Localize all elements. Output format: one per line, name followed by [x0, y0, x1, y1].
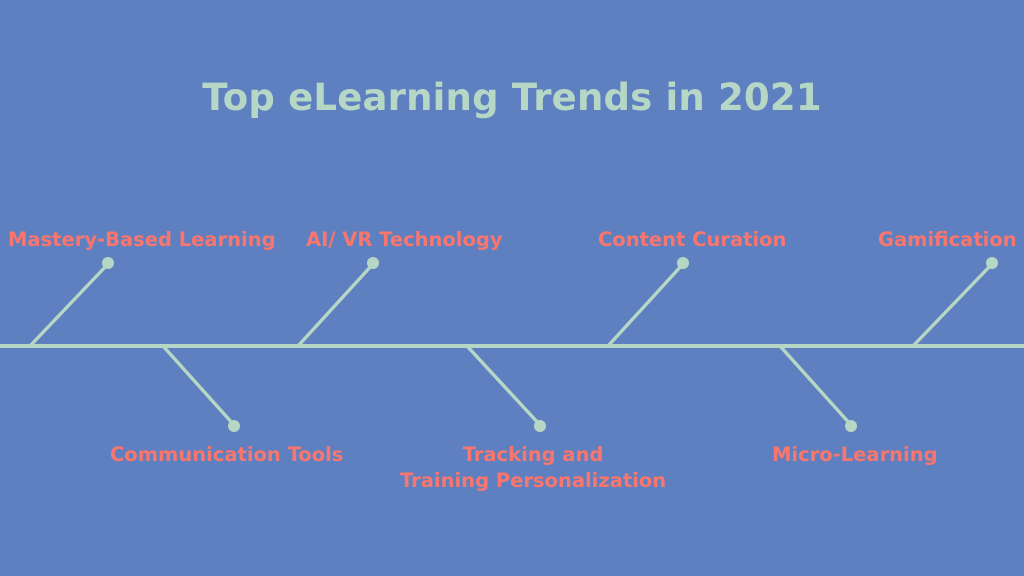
branch-content-curation: [608, 257, 689, 346]
branch-line: [298, 264, 373, 346]
branch-endpoint-dot: [367, 257, 379, 269]
branch-endpoint-dot: [102, 257, 114, 269]
branch-line: [467, 346, 540, 425]
branch-endpoint-dot: [677, 257, 689, 269]
branch-label-gamification: Gamification: [878, 227, 1017, 253]
branch-endpoint-dot: [228, 420, 240, 432]
branch-gamification: [913, 257, 998, 346]
branch-label-mastery-based-learning: Mastery-Based Learning: [8, 227, 276, 253]
branch-micro-learning: [780, 346, 857, 432]
fishbone-diagram-canvas: Top eLearning Trends in 2021 Mastery-Bas…: [0, 0, 1024, 576]
branch-line: [780, 346, 851, 425]
branch-label-communication-tools: Communication Tools: [110, 442, 343, 468]
branch-mastery-based-learning: [30, 257, 114, 346]
branch-communication-tools: [163, 346, 240, 432]
branch-label-micro-learning: Micro-Learning: [772, 442, 938, 468]
branch-tracking-and-training-personalization: [467, 346, 546, 432]
branch-label-line-2: Training Personalization: [400, 468, 666, 494]
branch-ai-vr-technology: [298, 257, 379, 346]
branch-line: [30, 264, 108, 346]
branch-label-content-curation: Content Curation: [598, 227, 786, 253]
branch-label-tracking-and-training-personalization: Tracking and Training Personalization: [400, 442, 666, 494]
branch-endpoint-dot: [845, 420, 857, 432]
branch-label-line-1: Tracking and: [400, 442, 666, 468]
branch-line: [608, 264, 683, 346]
branch-label-ai-vr-technology: AI/ VR Technology: [306, 227, 503, 253]
branch-line: [163, 346, 234, 425]
branch-endpoint-dot: [534, 420, 546, 432]
branch-line: [913, 264, 992, 346]
page-title: Top eLearning Trends in 2021: [0, 76, 1024, 119]
branch-endpoint-dot: [986, 257, 998, 269]
